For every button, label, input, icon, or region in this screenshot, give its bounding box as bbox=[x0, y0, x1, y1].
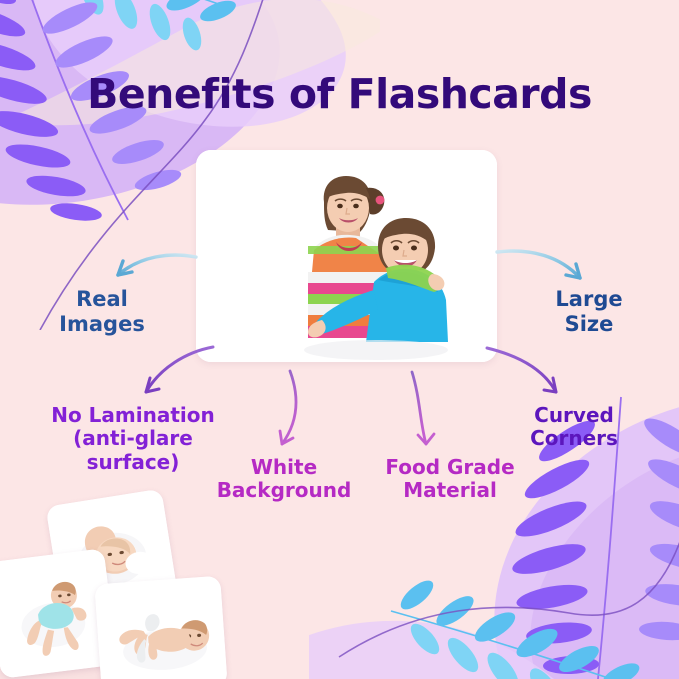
label-line: Curved bbox=[490, 404, 658, 427]
baby-crawling-in-diaper-photo bbox=[94, 576, 227, 679]
two-children-hugging-photo bbox=[196, 150, 497, 362]
label-large-size: Large Size bbox=[514, 287, 664, 336]
arrow-large-size bbox=[497, 251, 580, 278]
arrow-food-grade-material bbox=[412, 372, 434, 444]
label-food-grade-material: Food Grade Material bbox=[360, 456, 540, 503]
label-line: No Lamination bbox=[22, 404, 244, 427]
label-line: Food Grade bbox=[360, 456, 540, 479]
label-line: Real bbox=[24, 287, 180, 312]
label-line: Background bbox=[196, 479, 372, 502]
arrow-white-background bbox=[280, 371, 296, 444]
label-white-background: White Background bbox=[196, 456, 372, 503]
label-line: Large bbox=[514, 287, 664, 312]
mini-flashcard-baby-crawling[interactable] bbox=[94, 576, 227, 679]
hero-flashcard[interactable] bbox=[196, 150, 497, 362]
infographic-canvas: Benefits of Flashcards bbox=[0, 0, 679, 679]
label-line: White bbox=[196, 456, 372, 479]
label-line: (anti-glare bbox=[22, 427, 244, 450]
arrow-real-images bbox=[118, 255, 196, 275]
label-line: Images bbox=[24, 312, 180, 337]
label-curved-corners: Curved Corners bbox=[490, 404, 658, 451]
label-line: Size bbox=[514, 312, 664, 337]
label-line: Material bbox=[360, 479, 540, 502]
label-line: Corners bbox=[490, 427, 658, 450]
page-title: Benefits of Flashcards bbox=[0, 70, 679, 118]
arrow-curved-corners bbox=[487, 348, 556, 392]
label-real-images: Real Images bbox=[24, 287, 180, 336]
